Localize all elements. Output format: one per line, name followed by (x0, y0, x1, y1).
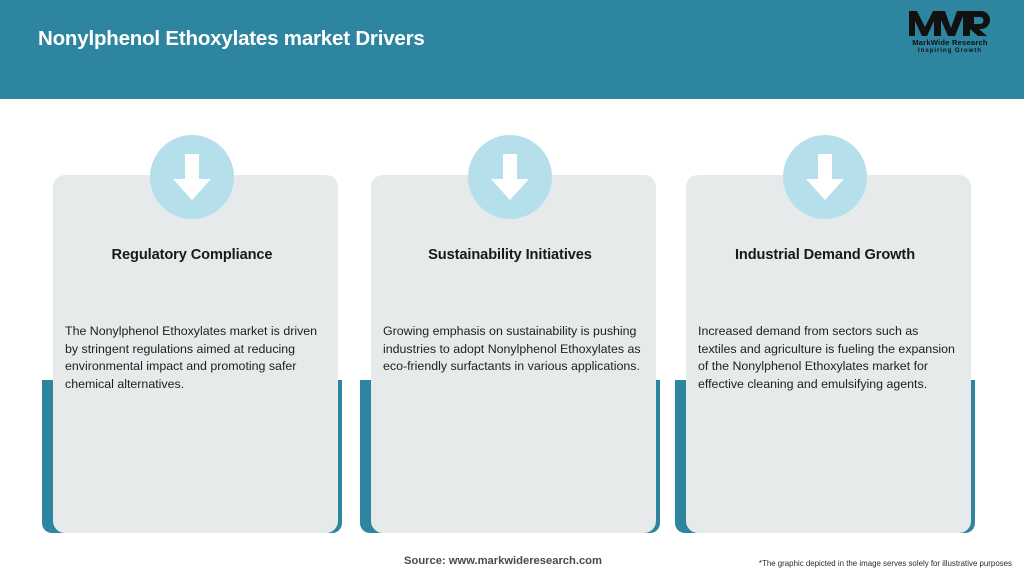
driver-card-regulatory-compliance[interactable]: Regulatory Compliance The Nonylphenol Et… (42, 99, 342, 534)
card-title: Regulatory Compliance (54, 247, 330, 263)
page-title: Nonylphenol Ethoxylates market Drivers (38, 27, 425, 51)
driver-card-industrial-demand-growth[interactable]: Industrial Demand Growth Increased deman… (675, 99, 975, 534)
card-title: Sustainability Initiatives (372, 247, 648, 263)
down-arrow-icon (150, 135, 234, 219)
down-arrow-icon (468, 135, 552, 219)
down-arrow-icon (783, 135, 867, 219)
driver-card-sustainability-initiatives[interactable]: Sustainability Initiatives Growing empha… (360, 99, 660, 534)
page-header: Nonylphenol Ethoxylates market Drivers M… (0, 0, 1024, 99)
brand-logo: MarkWide Research Inspiring Growth (898, 8, 1002, 60)
footer-disclaimer: *The graphic depicted in the image serve… (759, 559, 1012, 568)
card-body-text: The Nonylphenol Ethoxylates market is dr… (65, 323, 326, 393)
logo-tagline: Inspiring Growth (898, 47, 1002, 55)
drivers-card-grid: Regulatory Compliance The Nonylphenol Et… (0, 99, 1024, 534)
card-title: Industrial Demand Growth (687, 247, 963, 263)
logo-company-name: MarkWide Research (898, 38, 1002, 47)
mwr-logo-icon (898, 8, 1002, 38)
card-body-text: Increased demand from sectors such as te… (698, 323, 959, 393)
card-body-text: Growing emphasis on sustainability is pu… (383, 323, 644, 376)
